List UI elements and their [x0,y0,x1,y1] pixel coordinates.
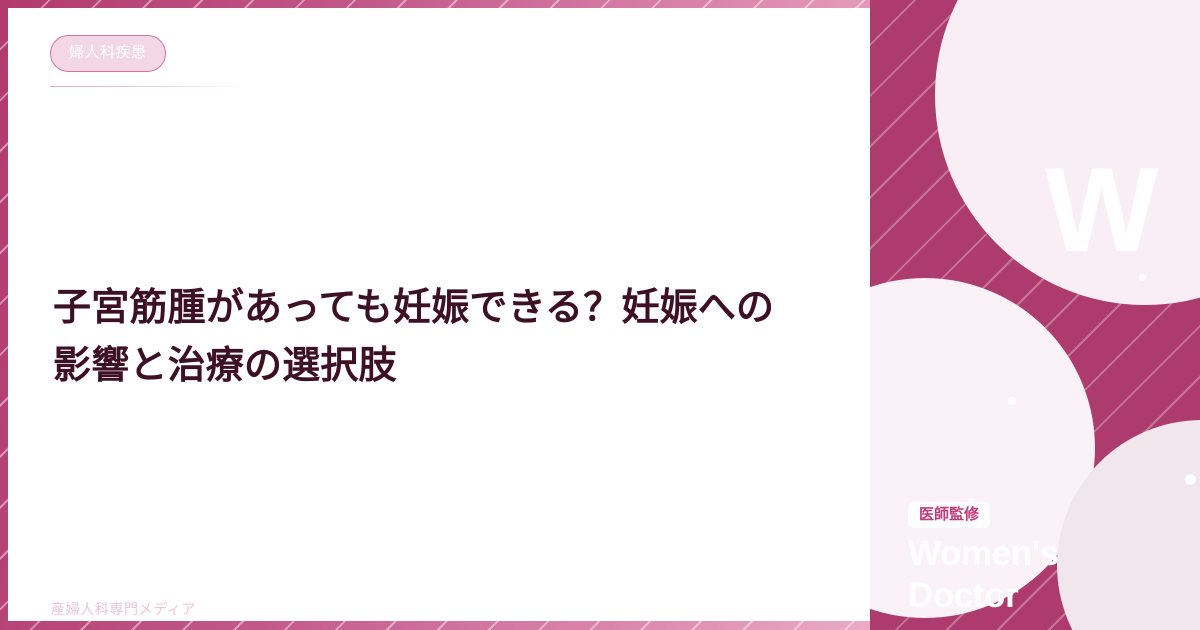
badge-divider-rule [50,86,246,87]
article-title: 子宮筋腫があっても妊娠できる？妊娠への 影響と治療の選択肢 [53,280,813,396]
content-card: 婦人科疾患 子宮筋腫があっても妊娠できる？妊娠への 影響と治療の選択肢 産婦人科… [8,8,870,621]
brand-name-line-1: Women's [908,533,1178,574]
decorative-dot-4 [1185,474,1196,485]
brand-monogram-w: W [1045,150,1156,270]
supervised-by-doctor-badge: 医師監修 [908,502,990,528]
brand-lockup: 医師監修 Women's Doctor [908,502,1178,616]
brand-name-line-2: Doctor [908,575,1178,616]
article-title-line-2: 影響と治療の選択肢 [53,338,813,396]
decorative-dot-1 [1139,274,1146,281]
article-title-line-1: 子宮筋腫があっても妊娠できる？妊娠への [53,280,813,338]
decorative-dot-2 [1008,397,1016,405]
category-badge[interactable]: 婦人科疾患 [50,35,166,72]
brand-name: Women's Doctor [908,533,1178,616]
brand-panel: W 医師監修 Women's Doctor [870,0,1200,630]
site-tagline: 産婦人科専門メディア [51,599,196,619]
og-image-card: 婦人科疾患 子宮筋腫があっても妊娠できる？妊娠への 影響と治療の選択肢 産婦人科… [0,0,1200,630]
